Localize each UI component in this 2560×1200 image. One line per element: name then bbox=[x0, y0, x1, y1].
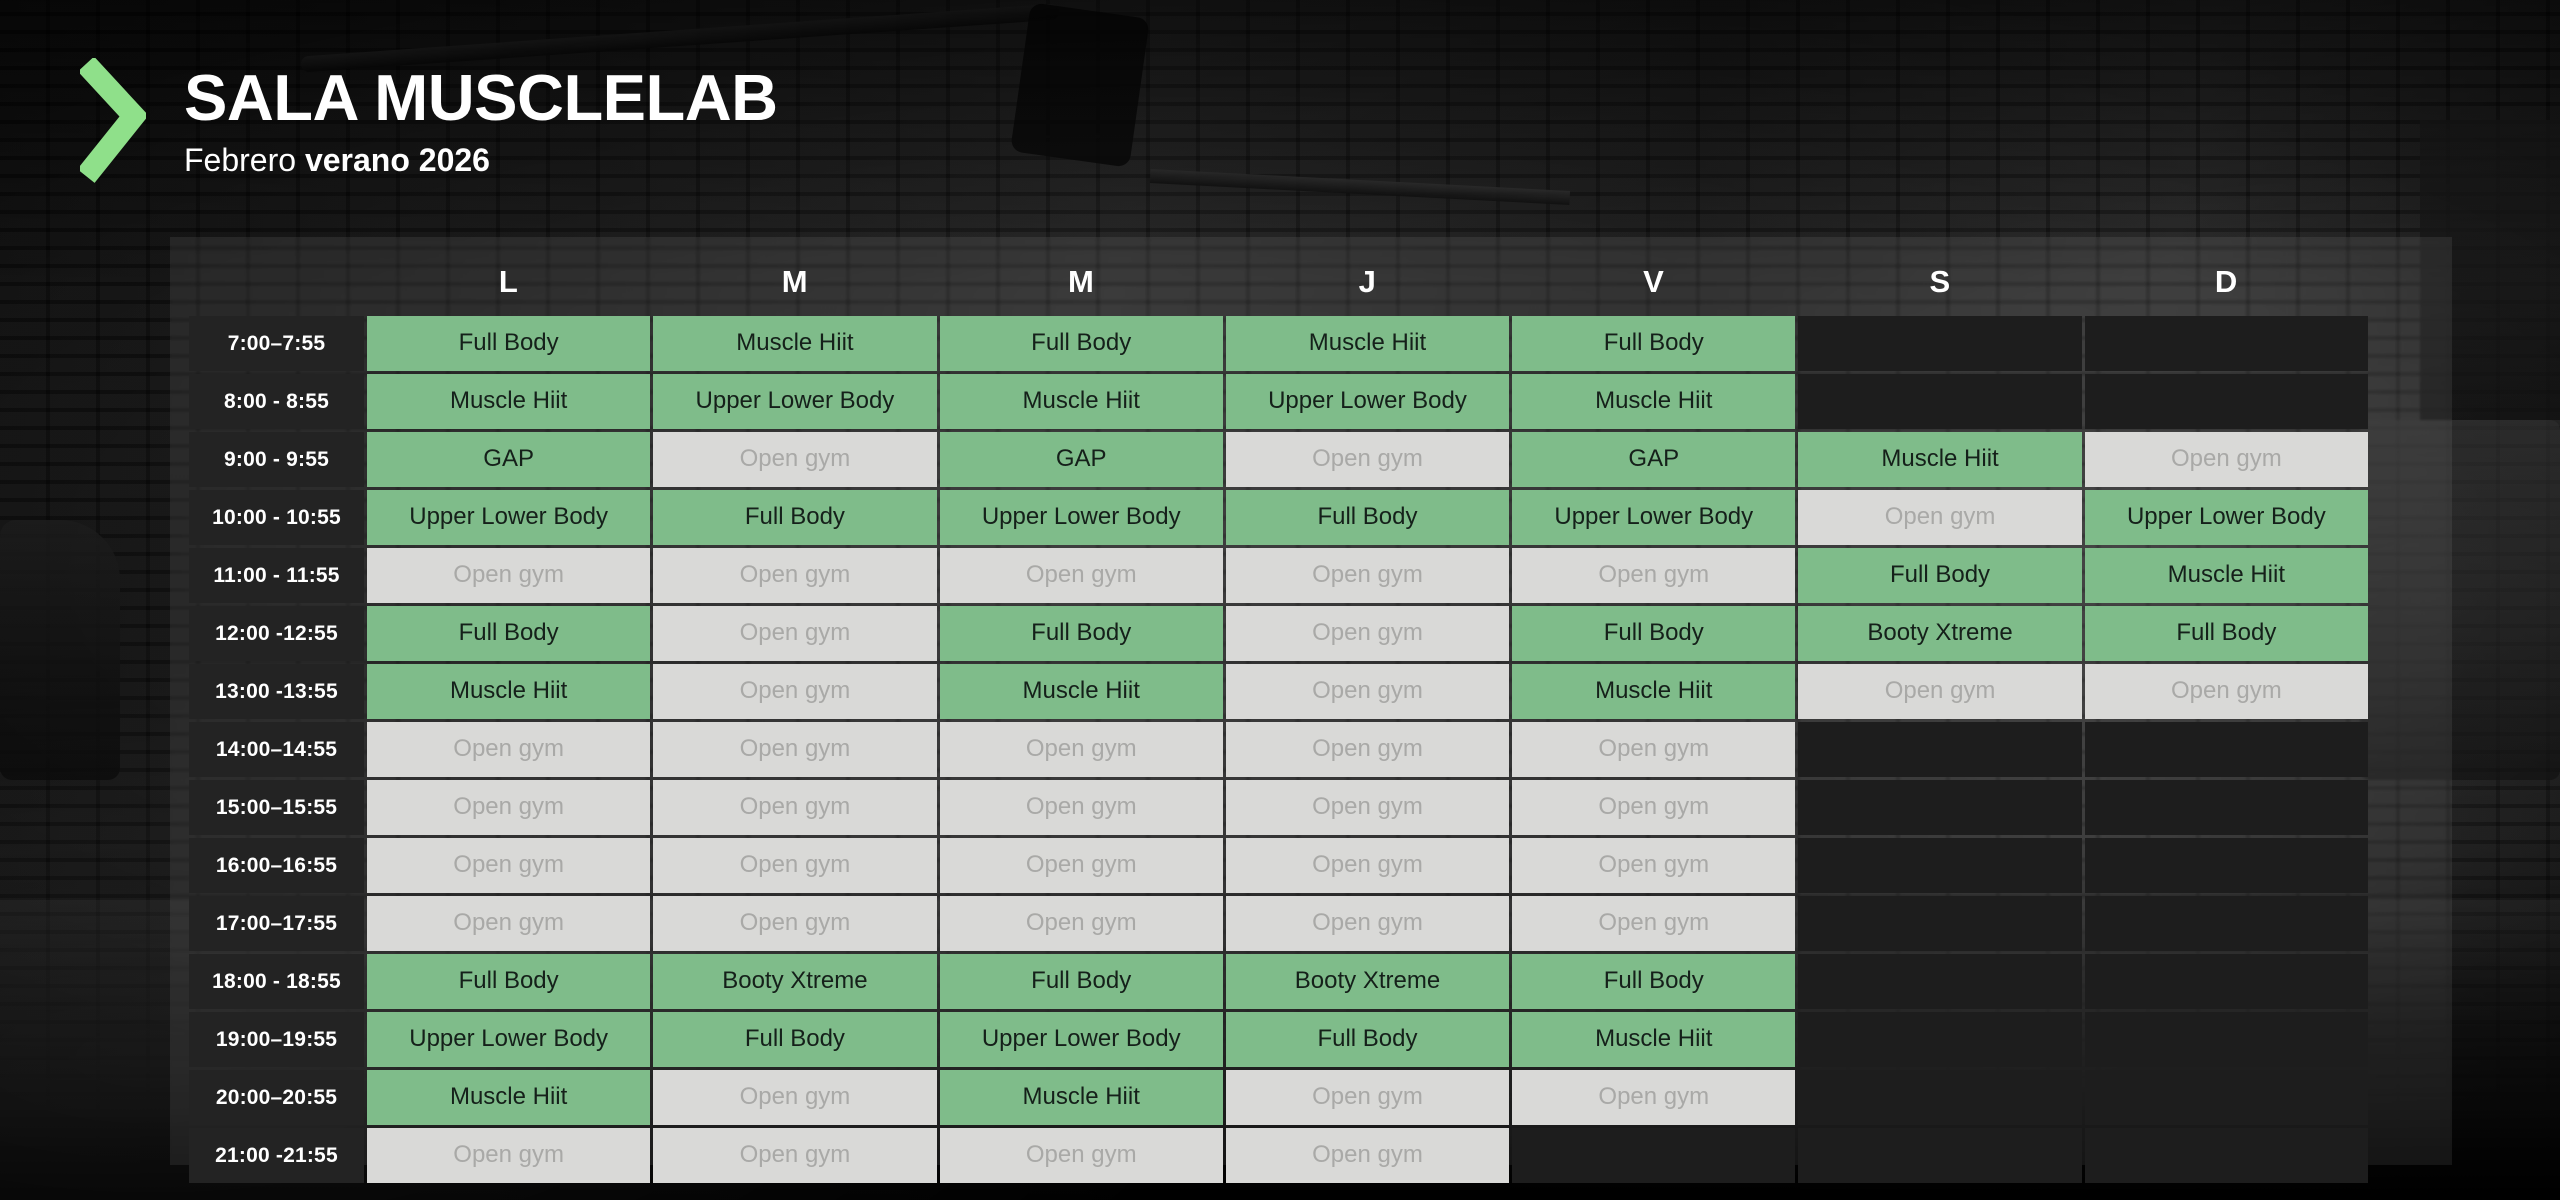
open-gym-cell[interactable]: Open gym bbox=[653, 780, 936, 835]
class-cell[interactable]: Muscle Hiit bbox=[1798, 432, 2081, 487]
class-cell[interactable]: Full Body bbox=[653, 490, 936, 545]
open-gym-cell[interactable]: Open gym bbox=[367, 896, 650, 951]
class-cell[interactable]: Full Body bbox=[1512, 316, 1795, 371]
class-cell[interactable]: Upper Lower Body bbox=[2085, 490, 2368, 545]
class-cell[interactable]: Full Body bbox=[367, 316, 650, 371]
open-gym-cell[interactable]: Open gym bbox=[367, 722, 650, 777]
class-cell[interactable]: GAP bbox=[940, 432, 1223, 487]
class-cell[interactable]: Full Body bbox=[1798, 548, 2081, 603]
time-column-header bbox=[189, 251, 364, 313]
schedule-row: 20:00–20:55Muscle HiitOpen gymMuscle Hii… bbox=[189, 1070, 2368, 1125]
empty-cell bbox=[2085, 1012, 2368, 1067]
class-cell[interactable]: Upper Lower Body bbox=[367, 1012, 650, 1067]
open-gym-cell[interactable]: Open gym bbox=[653, 838, 936, 893]
time-slot-label: 14:00–14:55 bbox=[189, 722, 364, 777]
schedule-body: 7:00–7:55Full BodyMuscle HiitFull BodyMu… bbox=[189, 316, 2368, 1183]
open-gym-cell[interactable]: Open gym bbox=[367, 1128, 650, 1183]
schedule-row: 18:00 - 18:55Full BodyBooty XtremeFull B… bbox=[189, 954, 2368, 1009]
class-cell[interactable]: Full Body bbox=[653, 1012, 936, 1067]
time-slot-label: 17:00–17:55 bbox=[189, 896, 364, 951]
empty-cell bbox=[1798, 1012, 2081, 1067]
schedule-row: 7:00–7:55Full BodyMuscle HiitFull BodyMu… bbox=[189, 316, 2368, 371]
class-cell[interactable]: Upper Lower Body bbox=[653, 374, 936, 429]
open-gym-cell[interactable]: Open gym bbox=[367, 838, 650, 893]
class-cell[interactable]: GAP bbox=[1512, 432, 1795, 487]
empty-cell bbox=[1798, 838, 2081, 893]
page-title: SALA MUSCLELAB bbox=[184, 65, 778, 130]
class-cell[interactable]: Full Body bbox=[940, 954, 1223, 1009]
open-gym-cell[interactable]: Open gym bbox=[1512, 1070, 1795, 1125]
schedule-row: 11:00 - 11:55Open gymOpen gymOpen gymOpe… bbox=[189, 548, 2368, 603]
class-cell[interactable]: Full Body bbox=[1226, 490, 1509, 545]
class-cell[interactable]: Booty Xtreme bbox=[1226, 954, 1509, 1009]
schedule-row: 16:00–16:55Open gymOpen gymOpen gymOpen … bbox=[189, 838, 2368, 893]
open-gym-cell[interactable]: Open gym bbox=[1512, 722, 1795, 777]
period-subtitle: Febrero verano 2026 bbox=[184, 142, 778, 179]
time-slot-label: 20:00–20:55 bbox=[189, 1070, 364, 1125]
open-gym-cell[interactable]: Open gym bbox=[653, 432, 936, 487]
time-slot-label: 12:00 -12:55 bbox=[189, 606, 364, 661]
empty-cell bbox=[1798, 722, 2081, 777]
class-cell[interactable]: Muscle Hiit bbox=[940, 1070, 1223, 1125]
open-gym-cell[interactable]: Open gym bbox=[1798, 490, 2081, 545]
open-gym-cell[interactable]: Open gym bbox=[1226, 722, 1509, 777]
time-slot-label: 10:00 - 10:55 bbox=[189, 490, 364, 545]
empty-cell bbox=[2085, 896, 2368, 951]
time-slot-label: 11:00 - 11:55 bbox=[189, 548, 364, 603]
class-cell[interactable]: GAP bbox=[367, 432, 650, 487]
empty-cell bbox=[1798, 1128, 2081, 1183]
open-gym-cell[interactable]: Open gym bbox=[653, 1070, 936, 1125]
open-gym-cell[interactable]: Open gym bbox=[1512, 838, 1795, 893]
class-cell[interactable]: Full Body bbox=[940, 606, 1223, 661]
open-gym-cell[interactable]: Open gym bbox=[940, 1128, 1223, 1183]
schedule-poster: SALA MUSCLELAB Febrero verano 2026 LMMJV… bbox=[0, 0, 2560, 1200]
time-slot-label: 16:00–16:55 bbox=[189, 838, 364, 893]
time-slot-label: 18:00 - 18:55 bbox=[189, 954, 364, 1009]
open-gym-cell[interactable]: Open gym bbox=[940, 838, 1223, 893]
class-cell[interactable]: Muscle Hiit bbox=[367, 374, 650, 429]
class-cell[interactable]: Muscle Hiit bbox=[1512, 374, 1795, 429]
period-month: Febrero bbox=[184, 142, 296, 178]
time-slot-label: 13:00 -13:55 bbox=[189, 664, 364, 719]
empty-cell bbox=[2085, 780, 2368, 835]
schedule-row: 12:00 -12:55Full BodyOpen gymFull BodyOp… bbox=[189, 606, 2368, 661]
class-cell[interactable]: Full Body bbox=[2085, 606, 2368, 661]
class-cell[interactable]: Upper Lower Body bbox=[1512, 490, 1795, 545]
class-cell[interactable]: Full Body bbox=[367, 954, 650, 1009]
day-header-6: D bbox=[2085, 251, 2368, 313]
open-gym-cell[interactable]: Open gym bbox=[1798, 664, 2081, 719]
day-header-3: J bbox=[1226, 251, 1509, 313]
schedule-row: 13:00 -13:55Muscle HiitOpen gymMuscle Hi… bbox=[189, 664, 2368, 719]
open-gym-cell[interactable]: Open gym bbox=[940, 722, 1223, 777]
open-gym-cell[interactable]: Open gym bbox=[1226, 838, 1509, 893]
schedule-row: 17:00–17:55Open gymOpen gymOpen gymOpen … bbox=[189, 896, 2368, 951]
open-gym-cell[interactable]: Open gym bbox=[653, 1128, 936, 1183]
time-slot-label: 7:00–7:55 bbox=[189, 316, 364, 371]
class-cell[interactable]: Muscle Hiit bbox=[940, 374, 1223, 429]
class-cell[interactable]: Full Body bbox=[1226, 1012, 1509, 1067]
open-gym-cell[interactable]: Open gym bbox=[653, 606, 936, 661]
empty-cell bbox=[2085, 374, 2368, 429]
open-gym-cell[interactable]: Open gym bbox=[1226, 606, 1509, 661]
class-cell[interactable]: Full Body bbox=[1512, 954, 1795, 1009]
schedule-row: 14:00–14:55Open gymOpen gymOpen gymOpen … bbox=[189, 722, 2368, 777]
class-cell[interactable]: Muscle Hiit bbox=[367, 664, 650, 719]
empty-cell bbox=[2085, 1128, 2368, 1183]
period-season-year: verano 2026 bbox=[305, 142, 490, 178]
open-gym-cell[interactable]: Open gym bbox=[1226, 1070, 1509, 1125]
time-slot-label: 8:00 - 8:55 bbox=[189, 374, 364, 429]
empty-cell bbox=[2085, 316, 2368, 371]
open-gym-cell[interactable]: Open gym bbox=[2085, 432, 2368, 487]
day-header-0: L bbox=[367, 251, 650, 313]
day-header-2: M bbox=[940, 251, 1223, 313]
empty-cell bbox=[1798, 374, 2081, 429]
open-gym-cell[interactable]: Open gym bbox=[1226, 664, 1509, 719]
open-gym-cell[interactable]: Open gym bbox=[653, 896, 936, 951]
open-gym-cell[interactable]: Open gym bbox=[940, 896, 1223, 951]
time-slot-label: 15:00–15:55 bbox=[189, 780, 364, 835]
class-cell[interactable]: Muscle Hiit bbox=[367, 1070, 650, 1125]
chevron-right-logo-icon bbox=[80, 58, 146, 184]
empty-cell bbox=[1798, 780, 2081, 835]
schedule-row: 19:00–19:55Upper Lower BodyFull BodyUppe… bbox=[189, 1012, 2368, 1067]
empty-cell bbox=[2085, 838, 2368, 893]
empty-cell bbox=[2085, 954, 2368, 1009]
open-gym-cell[interactable]: Open gym bbox=[1512, 780, 1795, 835]
class-cell[interactable]: Muscle Hiit bbox=[1512, 1012, 1795, 1067]
open-gym-cell[interactable]: Open gym bbox=[940, 548, 1223, 603]
header-text-block: SALA MUSCLELAB Febrero verano 2026 bbox=[184, 63, 778, 179]
time-slot-label: 21:00 -21:55 bbox=[189, 1128, 364, 1183]
class-cell[interactable]: Muscle Hiit bbox=[653, 316, 936, 371]
empty-cell bbox=[2085, 1070, 2368, 1125]
class-cell[interactable]: Muscle Hiit bbox=[2085, 548, 2368, 603]
open-gym-cell[interactable]: Open gym bbox=[1226, 780, 1509, 835]
empty-cell bbox=[1798, 316, 2081, 371]
empty-cell bbox=[1512, 1128, 1795, 1183]
class-cell[interactable]: Upper Lower Body bbox=[367, 490, 650, 545]
time-slot-label: 19:00–19:55 bbox=[189, 1012, 364, 1067]
schedule-row: 9:00 - 9:55GAPOpen gymGAPOpen gymGAPMusc… bbox=[189, 432, 2368, 487]
class-cell[interactable]: Muscle Hiit bbox=[940, 664, 1223, 719]
class-cell[interactable]: Upper Lower Body bbox=[1226, 374, 1509, 429]
class-cell[interactable]: Muscle Hiit bbox=[1512, 664, 1795, 719]
open-gym-cell[interactable]: Open gym bbox=[1226, 1128, 1509, 1183]
class-cell[interactable]: Muscle Hiit bbox=[1226, 316, 1509, 371]
class-cell[interactable]: Full Body bbox=[940, 316, 1223, 371]
schedule-row: 21:00 -21:55Open gymOpen gymOpen gymOpen… bbox=[189, 1128, 2368, 1183]
empty-cell bbox=[2085, 722, 2368, 777]
empty-cell bbox=[1798, 896, 2081, 951]
class-cell[interactable]: Upper Lower Body bbox=[940, 1012, 1223, 1067]
open-gym-cell[interactable]: Open gym bbox=[653, 548, 936, 603]
open-gym-cell[interactable]: Open gym bbox=[1512, 548, 1795, 603]
open-gym-cell[interactable]: Open gym bbox=[367, 780, 650, 835]
class-cell[interactable]: Upper Lower Body bbox=[940, 490, 1223, 545]
day-header-5: S bbox=[1798, 251, 2081, 313]
open-gym-cell[interactable]: Open gym bbox=[1226, 432, 1509, 487]
empty-cell bbox=[1798, 954, 2081, 1009]
open-gym-cell[interactable]: Open gym bbox=[2085, 664, 2368, 719]
empty-cell bbox=[1798, 1070, 2081, 1125]
day-header-1: M bbox=[653, 251, 936, 313]
weekly-schedule-table: LMMJVSD 7:00–7:55Full BodyMuscle HiitFul… bbox=[186, 248, 2371, 1186]
open-gym-cell[interactable]: Open gym bbox=[1226, 548, 1509, 603]
open-gym-cell[interactable]: Open gym bbox=[940, 780, 1223, 835]
open-gym-cell[interactable]: Open gym bbox=[653, 722, 936, 777]
schedule-row: 10:00 - 10:55Upper Lower BodyFull BodyUp… bbox=[189, 490, 2368, 545]
open-gym-cell[interactable]: Open gym bbox=[1226, 896, 1509, 951]
poster-header: SALA MUSCLELAB Febrero verano 2026 bbox=[80, 58, 778, 184]
open-gym-cell[interactable]: Open gym bbox=[1512, 896, 1795, 951]
class-cell[interactable]: Booty Xtreme bbox=[1798, 606, 2081, 661]
class-cell[interactable]: Full Body bbox=[1512, 606, 1795, 661]
day-header-4: V bbox=[1512, 251, 1795, 313]
schedule-header-row: LMMJVSD bbox=[189, 251, 2368, 313]
class-cell[interactable]: Booty Xtreme bbox=[653, 954, 936, 1009]
class-cell[interactable]: Full Body bbox=[367, 606, 650, 661]
open-gym-cell[interactable]: Open gym bbox=[653, 664, 936, 719]
schedule-row: 8:00 - 8:55Muscle HiitUpper Lower BodyMu… bbox=[189, 374, 2368, 429]
time-slot-label: 9:00 - 9:55 bbox=[189, 432, 364, 487]
open-gym-cell[interactable]: Open gym bbox=[367, 548, 650, 603]
schedule-row: 15:00–15:55Open gymOpen gymOpen gymOpen … bbox=[189, 780, 2368, 835]
